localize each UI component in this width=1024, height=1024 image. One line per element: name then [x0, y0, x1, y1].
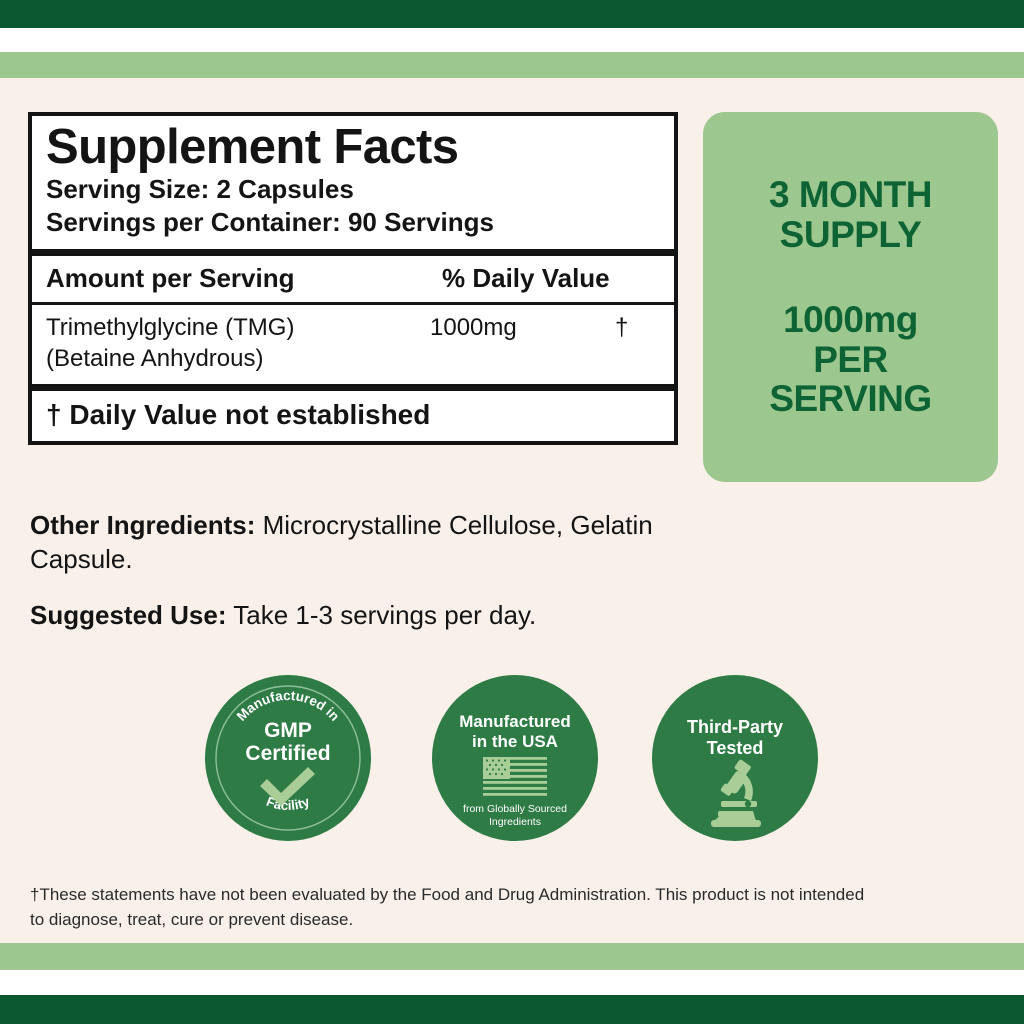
column-header-daily-value: % Daily Value [384, 263, 660, 294]
supply-badge-line-5: SERVING [769, 379, 931, 419]
supply-badge-line-3: 1000mg [783, 300, 918, 340]
seal-test-line-2: Tested [707, 738, 764, 758]
page-title: Supplement Facts [46, 122, 660, 173]
supply-badge-line-2: SUPPLY [780, 215, 922, 255]
suggested-use-label: Suggested Use: [30, 600, 227, 630]
top-dark-green-bar [0, 0, 1024, 28]
seal-usa-sub-line-2: Ingredients [489, 816, 541, 828]
usa-flag-icon [483, 757, 547, 796]
suggested-use-value: Take 1-3 servings per day. [227, 600, 537, 630]
seal-usa-sub-line-1: from Globally Sourced [463, 803, 567, 815]
bottom-white-bar [0, 970, 1024, 995]
top-light-green-bar [0, 52, 1024, 78]
label-canvas: Supplement Facts Serving Size: 2 Capsule… [0, 78, 1024, 943]
seal-third-party-tested: Third-Party Tested [652, 675, 818, 841]
column-header-amount: Amount per Serving [46, 263, 384, 294]
other-ingredients-text: Other Ingredients: Microcrystalline Cell… [30, 508, 710, 577]
top-white-bar [0, 28, 1024, 52]
other-ingredients-label: Other Ingredients: [30, 510, 255, 540]
fda-disclaimer-line-1: †These statements have not been evaluate… [30, 883, 995, 908]
ingredient-amount: 1000mg [430, 313, 517, 344]
bottom-dark-green-bar [0, 995, 1024, 1024]
table-column-headers: Amount per Serving % Daily Value [32, 256, 674, 302]
seal-gmp-certified: Manufactured in Facility GMP Certified [205, 675, 371, 841]
serving-size-text: Serving Size: 2 Capsules [46, 173, 660, 206]
ingredient-name-line2: (Betaine Anhydrous) [46, 344, 660, 375]
supply-badge-line-4: PER [813, 340, 888, 380]
seal-usa-line-2: in the USA [472, 732, 558, 751]
ingredient-daily-value: † [615, 313, 628, 344]
microscope-icon [711, 759, 761, 827]
ingredient-name-line1: Trimethylglycine (TMG) [46, 313, 660, 344]
servings-per-container-text: Servings per Container: 90 Servings [46, 206, 660, 239]
table-row: Trimethylglycine (TMG) (Betaine Anhydrou… [32, 305, 674, 384]
supply-badge: 3 MONTH SUPPLY 1000mg PER SERVING [703, 112, 998, 482]
seal-gmp-line-1: GMP [264, 719, 312, 742]
daily-value-footnote: † Daily Value not established [32, 391, 674, 441]
suggested-use-text: Suggested Use: Take 1-3 servings per day… [30, 598, 710, 632]
supplement-facts-header: Supplement Facts Serving Size: 2 Capsule… [32, 116, 674, 249]
seal-made-in-usa: Manufactured in the USA [432, 675, 598, 841]
divider-thick-1 [32, 249, 674, 256]
fda-disclaimer: †These statements have not been evaluate… [30, 883, 995, 932]
supply-badge-line-1: 3 MONTH [769, 175, 932, 215]
divider-thick-2 [32, 384, 674, 391]
seal-test-line-1: Third-Party [687, 717, 783, 737]
seal-gmp-line-2: Certified [245, 742, 330, 765]
supplement-facts-panel: Supplement Facts Serving Size: 2 Capsule… [28, 112, 678, 445]
seal-usa-line-1: Manufactured [459, 712, 570, 731]
fda-disclaimer-line-2: to diagnose, treat, cure or prevent dise… [30, 908, 995, 933]
bottom-light-green-bar [0, 943, 1024, 970]
